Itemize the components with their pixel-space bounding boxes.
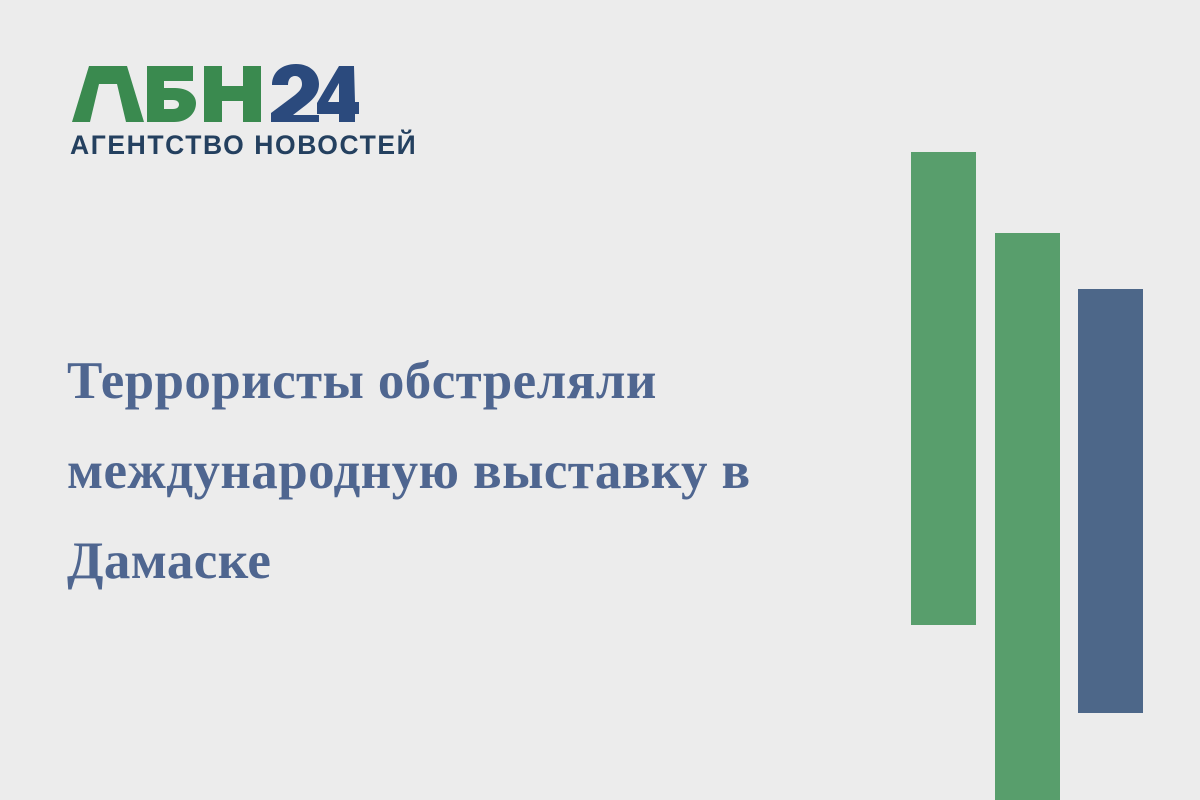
logo-tagline: АГЕНТСТВО НОВОСТЕЙ xyxy=(70,132,417,159)
headline-line-3: Дамаске xyxy=(67,516,867,606)
abn24-logotype-icon xyxy=(67,58,359,130)
chart-bar-1 xyxy=(911,152,976,625)
chart-bar-2 xyxy=(995,233,1060,800)
chart-bar-3 xyxy=(1078,289,1143,713)
brand-logo[interactable]: АГЕНТСТВО НОВОСТЕЙ xyxy=(67,58,367,163)
page-title: Террористы обстреляли международную выст… xyxy=(67,336,867,606)
news-card: АГЕНТСТВО НОВОСТЕЙ Террористы обстреляли… xyxy=(0,0,1200,800)
headline-line-1: Террористы обстреляли xyxy=(67,336,867,426)
headline-line-2: международную выставку в xyxy=(67,426,867,516)
